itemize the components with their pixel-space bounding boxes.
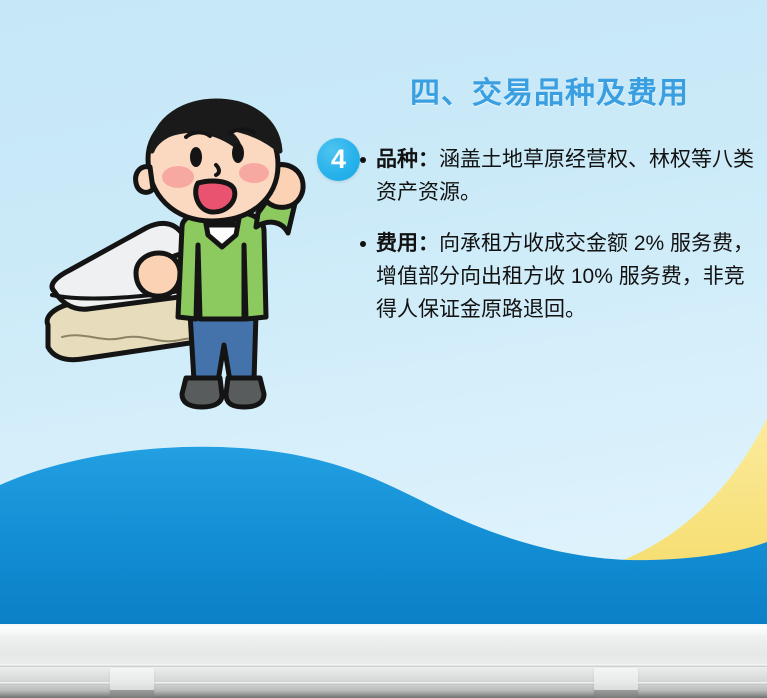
boy-ear bbox=[136, 167, 153, 193]
page-title: 四、交易品种及费用 bbox=[410, 76, 750, 112]
shelf-bracket-left-shadow bbox=[110, 690, 154, 698]
slide-canvas: 四、交易品种及费用 4 品种：涵盖土地草原经营权、林权等八类资产资源。 费用：向… bbox=[0, 0, 767, 698]
boy-mouth bbox=[196, 181, 235, 212]
bullet-item-1: 费用：向承租方收成交金额 2% 服务费，增值部分向出租方收 10% 服务费，非竞… bbox=[358, 227, 756, 326]
boy-left-hand bbox=[136, 253, 180, 296]
bullet-item-0: 品种：涵盖土地草原经营权、林权等八类资产资源。 bbox=[358, 143, 756, 209]
boy-cheek-right bbox=[239, 163, 269, 183]
wave-decoration bbox=[0, 400, 767, 624]
boy-eye-left bbox=[190, 147, 202, 167]
wave-blue bbox=[0, 447, 767, 624]
shelf-highlight bbox=[0, 626, 767, 636]
bullet-label-0: 品种： bbox=[376, 148, 439, 171]
boy-pants bbox=[190, 313, 256, 381]
bottom-shelf bbox=[0, 624, 767, 698]
bullet-list: 品种：涵盖土地草原经营权、林权等八类资产资源。 费用：向承租方收成交金额 2% … bbox=[358, 143, 756, 344]
bullet-dot-icon bbox=[360, 241, 366, 247]
boy-eye-right bbox=[232, 143, 244, 163]
bullet-label-1: 费用： bbox=[376, 232, 439, 255]
bullet-dot-icon bbox=[360, 157, 366, 163]
boy-illustration bbox=[40, 95, 340, 425]
shelf-groove-upper bbox=[0, 664, 767, 667]
step-number-badge: 4 bbox=[317, 138, 360, 181]
shelf-bracket-right-shadow bbox=[594, 690, 638, 698]
boy-shoe-right bbox=[226, 378, 264, 407]
boy-cheek-left bbox=[162, 166, 194, 188]
boy-shoe-left bbox=[182, 378, 222, 407]
